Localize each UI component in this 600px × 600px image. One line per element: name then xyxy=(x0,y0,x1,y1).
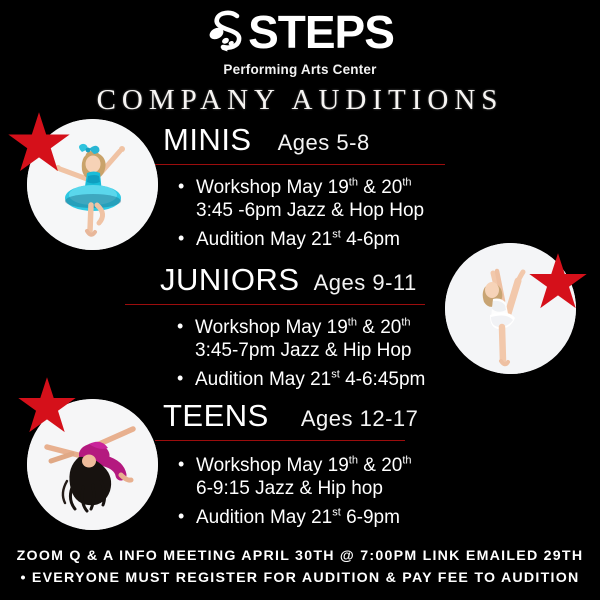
section-title: MINIS xyxy=(163,124,252,156)
list-item: Audition May 21st 4-6:45pm xyxy=(177,368,600,391)
section-header: TEENS Ages 12-17 xyxy=(0,400,600,435)
footprint-s-icon xyxy=(206,8,250,56)
list-item: Workshop May 19th & 20th3:45 -6pm Jazz &… xyxy=(178,176,600,222)
section-details-list: Workshop May 19th & 20th3:45-7pm Jazz & … xyxy=(0,305,600,391)
logo-text: STEPS xyxy=(248,9,394,55)
page-title: COMPANY AUDITIONS xyxy=(0,84,600,117)
audition-flyer: STEPS Performing Arts Center COMPANY AUD… xyxy=(0,0,600,600)
list-item: Workshop May 19th & 20th3:45-7pm Jazz & … xyxy=(177,316,600,362)
section-teens: TEENS Ages 12-17 Workshop May 19th & 20t… xyxy=(0,400,600,529)
section-title: TEENS xyxy=(163,400,269,432)
brand-logo: STEPS Performing Arts Center xyxy=(0,8,600,77)
footer-line-registration-note: • EVERYONE MUST REGISTER FOR AUDITION & … xyxy=(0,567,600,589)
footer-line-zoom-meeting: ZOOM Q & A INFO MEETING APRIL 30TH @ 7:0… xyxy=(0,545,600,567)
section-minis: MINIS Ages 5-8 Workshop May 19th & 20th3… xyxy=(0,124,600,251)
list-item: Workshop May 19th & 20th 6-9:15 Jazz & H… xyxy=(178,454,600,500)
section-age-range: Ages 12-17 xyxy=(301,403,419,435)
section-title: JUNIORS xyxy=(160,264,300,296)
section-age-range: Ages 5-8 xyxy=(278,127,370,159)
list-item: Audition May 21st 6-9pm xyxy=(178,506,600,529)
logo-wordmark: STEPS xyxy=(206,8,394,56)
section-details-list: Workshop May 19th & 20th 6-9:15 Jazz & H… xyxy=(0,441,600,529)
logo-tagline: Performing Arts Center xyxy=(0,62,600,77)
section-header: MINIS Ages 5-8 xyxy=(0,124,600,159)
list-item: Audition May 21st 4-6pm xyxy=(178,228,600,251)
section-details-list: Workshop May 19th & 20th3:45 -6pm Jazz &… xyxy=(0,165,600,251)
footer-notes: ZOOM Q & A INFO MEETING APRIL 30TH @ 7:0… xyxy=(0,545,600,589)
section-juniors: JUNIORS Ages 9-11 Workshop May 19th & 20… xyxy=(0,264,600,391)
section-header: JUNIORS Ages 9-11 xyxy=(0,264,600,299)
section-age-range: Ages 9-11 xyxy=(314,267,417,299)
